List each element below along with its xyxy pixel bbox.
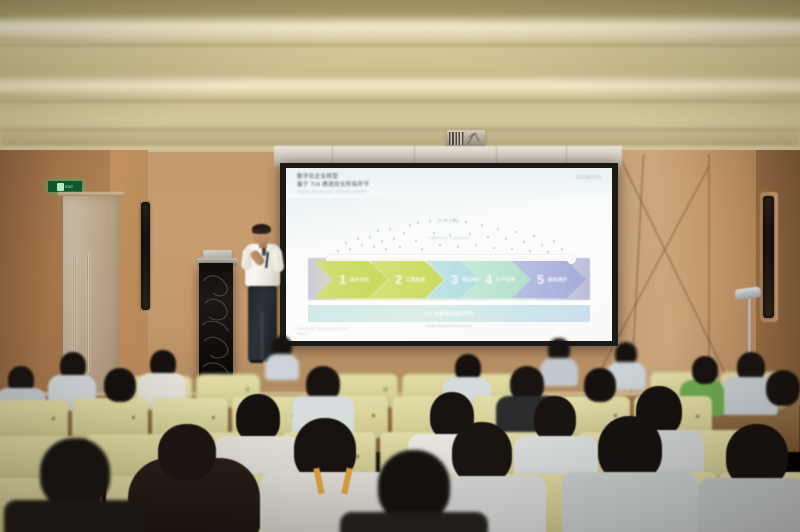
slide-cloud-label-bottom: Digital Twin · Integration	[359, 236, 539, 240]
recessed-wall-slot-right	[763, 196, 774, 318]
seat-fastener	[132, 416, 135, 419]
audience-body	[340, 512, 488, 532]
running-man-icon	[57, 183, 64, 191]
slide-platform-band-label: TIA 全集成自动化平台	[424, 311, 474, 317]
presenter-leg-gap	[261, 312, 263, 360]
chevron-label-1: 设计优化	[350, 277, 370, 283]
audience-body	[265, 354, 299, 380]
presenter-hair	[252, 224, 271, 234]
chevron-label-2: 工程组态	[406, 277, 426, 283]
chevron-number-2: 2	[395, 272, 402, 287]
seat-fastener	[372, 414, 375, 417]
projection-screen: 数字化企业转型 基于 TIA 携进优化所有环节 Digital Enterpri…	[286, 168, 612, 341]
camera-grille-icon	[449, 132, 464, 145]
audience-body	[4, 500, 144, 532]
audience-head	[766, 370, 800, 406]
slide-footer: Unrestricted · © Siemens AG 2019 Page 1	[297, 327, 348, 337]
audience-head	[452, 422, 512, 484]
ceiling-seam-b	[0, 100, 800, 103]
ceiling-light-strip-front	[0, 14, 800, 40]
audience-head	[692, 356, 718, 384]
chevron-number-3: 3	[451, 272, 458, 287]
audience-head	[104, 368, 136, 402]
chevron-label-4: 生产运营	[496, 277, 516, 283]
audience-body	[540, 358, 578, 386]
slide-subtitle: Digital Enterprise Transformation	[297, 189, 366, 194]
seat-fastener	[384, 388, 387, 391]
audience-head	[158, 424, 216, 480]
lectern-swirl-pattern	[199, 263, 233, 388]
ceiling-light-strip-rear	[0, 74, 800, 96]
seat-fastener	[614, 414, 617, 417]
ceiling	[0, 0, 800, 152]
audience-head	[584, 368, 616, 402]
slide-process-chevrons: 1 设计优化 2 工程组态 3 调试调善 4 生产运营 5 服务维护	[308, 258, 590, 300]
door-handle-right[interactable]	[87, 254, 90, 372]
slide-cloud-label-top: 数字化双胞胎	[379, 218, 519, 223]
chevron-number-4: 4	[485, 272, 492, 287]
slide-platform-band: TIA 全集成自动化平台	[308, 305, 590, 322]
chevron-label-5: 服务维护	[548, 277, 568, 283]
audience-body	[698, 478, 800, 532]
recessed-wall-slot-left	[141, 202, 150, 310]
camera-arm-icon	[466, 131, 481, 146]
seat-fastener	[246, 388, 249, 391]
ceiling-seam-a	[0, 44, 800, 47]
slide-title: 数字化企业转型 基于 TIA 携进优化所有环节	[297, 174, 369, 189]
seat-fastener	[52, 417, 55, 420]
audience-head	[40, 438, 110, 508]
seat-fastener	[212, 416, 215, 419]
chevron-number-1: 1	[339, 272, 346, 287]
lecture-hall-photo: EXIT 数字化企业转型 基于 TIA 携进优化所有环节 Digital Ent…	[0, 0, 800, 532]
seat-fastener	[696, 415, 699, 418]
exit-sign-label: EXIT	[65, 184, 73, 189]
chevron-number-5: 5	[537, 272, 544, 287]
seat[interactable]	[0, 400, 68, 440]
audience-body	[562, 472, 698, 532]
seat-fastener	[356, 455, 359, 458]
presenter-badge	[265, 268, 270, 274]
audience-head	[236, 394, 280, 442]
siemens-logo: SIEMENS	[576, 175, 602, 181]
